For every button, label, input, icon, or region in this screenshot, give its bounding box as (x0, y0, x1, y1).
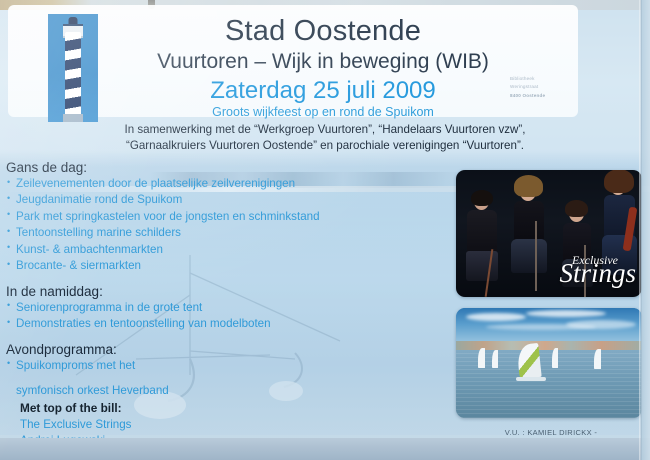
stamp-line-2: Weringstraat (510, 83, 582, 91)
wall-right-panel (641, 0, 650, 460)
section-item-list: Spuikomproms met het (6, 358, 336, 374)
section-item-list: Zeilevenementen door de plaatselijke zei… (6, 176, 336, 275)
spuikom-sailing-photo (456, 308, 642, 418)
wall-bottom-strip (0, 438, 650, 460)
program-section-day: Gans de dag: Zeilevenementen door de pla… (6, 160, 336, 275)
wall-seam (639, 0, 642, 460)
top-of-bill-label: Met top of the bill: (6, 400, 336, 417)
top-of-bill-act: The Exclusive Strings (6, 417, 336, 433)
section-item-list: Seniorenprogramma in de grote tent Demon… (6, 300, 336, 333)
performer-figure (504, 181, 556, 297)
section-heading: In de namiddag: (6, 284, 336, 299)
list-item: Tentoonstelling marine schilders (6, 225, 336, 241)
stamp-line-3: 8400 Oostende (510, 93, 545, 98)
list-item: Spuikomproms met het (6, 358, 336, 374)
list-item: Park met springkastelen voor de jongsten… (6, 209, 336, 225)
performer-figure (462, 193, 506, 297)
list-item: Kunst- & ambachtenmarkten (6, 242, 336, 258)
lighthouse-logo-icon (48, 14, 98, 122)
stamp-line-1: Bibliotheek (510, 75, 582, 83)
event-date: Zaterdag 25 juli 2009 (118, 77, 528, 105)
program-section-afternoon: In de namiddag: Seniorenprogramma in de … (6, 284, 336, 333)
list-item: Seniorenprogramma in de grote tent (6, 300, 336, 316)
partners-block: In samenwerking met de “Werkgroep Vuurto… (80, 122, 570, 153)
list-item: Zeilevenementen door de plaatselijke zei… (6, 176, 336, 192)
list-item: Jeugdanimatie rond de Spuikom (6, 192, 336, 208)
partners-line-1: In samenwerking met de “Werkgroep Vuurto… (80, 122, 570, 138)
list-item: Brocante- & siermarkten (6, 258, 336, 274)
photo-watermark: Exclusive Strings (559, 254, 636, 287)
page-title: Stad Oostende (118, 15, 528, 48)
watermark-strings: Strings (559, 260, 636, 287)
library-stamp: Bibliotheek Weringstraat 8400 Oostende (510, 75, 582, 100)
header-subtitle: Vuurtoren – Wijk in beweging (WIB) (118, 50, 528, 74)
list-item: Demonstraties en tentoonstelling van mod… (6, 316, 336, 332)
event-tagline: Groots wijkfeest op en rond de Spuikom (118, 105, 528, 119)
section-heading: Gans de dag: (6, 160, 336, 175)
section-heading: Avondprogramma: (6, 342, 336, 357)
evening-continuation: symfonisch orkest Heverband (6, 383, 336, 399)
partners-line-2: “Garnaalkruiers Vuurtoren Oostende” en p… (80, 138, 570, 154)
exclusive-strings-photo: Exclusive Strings (456, 170, 642, 297)
program-column: Gans de dag: Zeilevenementen door de pla… (6, 160, 336, 460)
program-section-evening: Avondprogramma: Spuikomproms met het sym… (6, 342, 336, 450)
poster-root: Stad Oostende Vuurtoren – Wijk in bewegi… (0, 0, 650, 460)
header-panel: Stad Oostende Vuurtoren – Wijk in bewegi… (8, 5, 578, 117)
